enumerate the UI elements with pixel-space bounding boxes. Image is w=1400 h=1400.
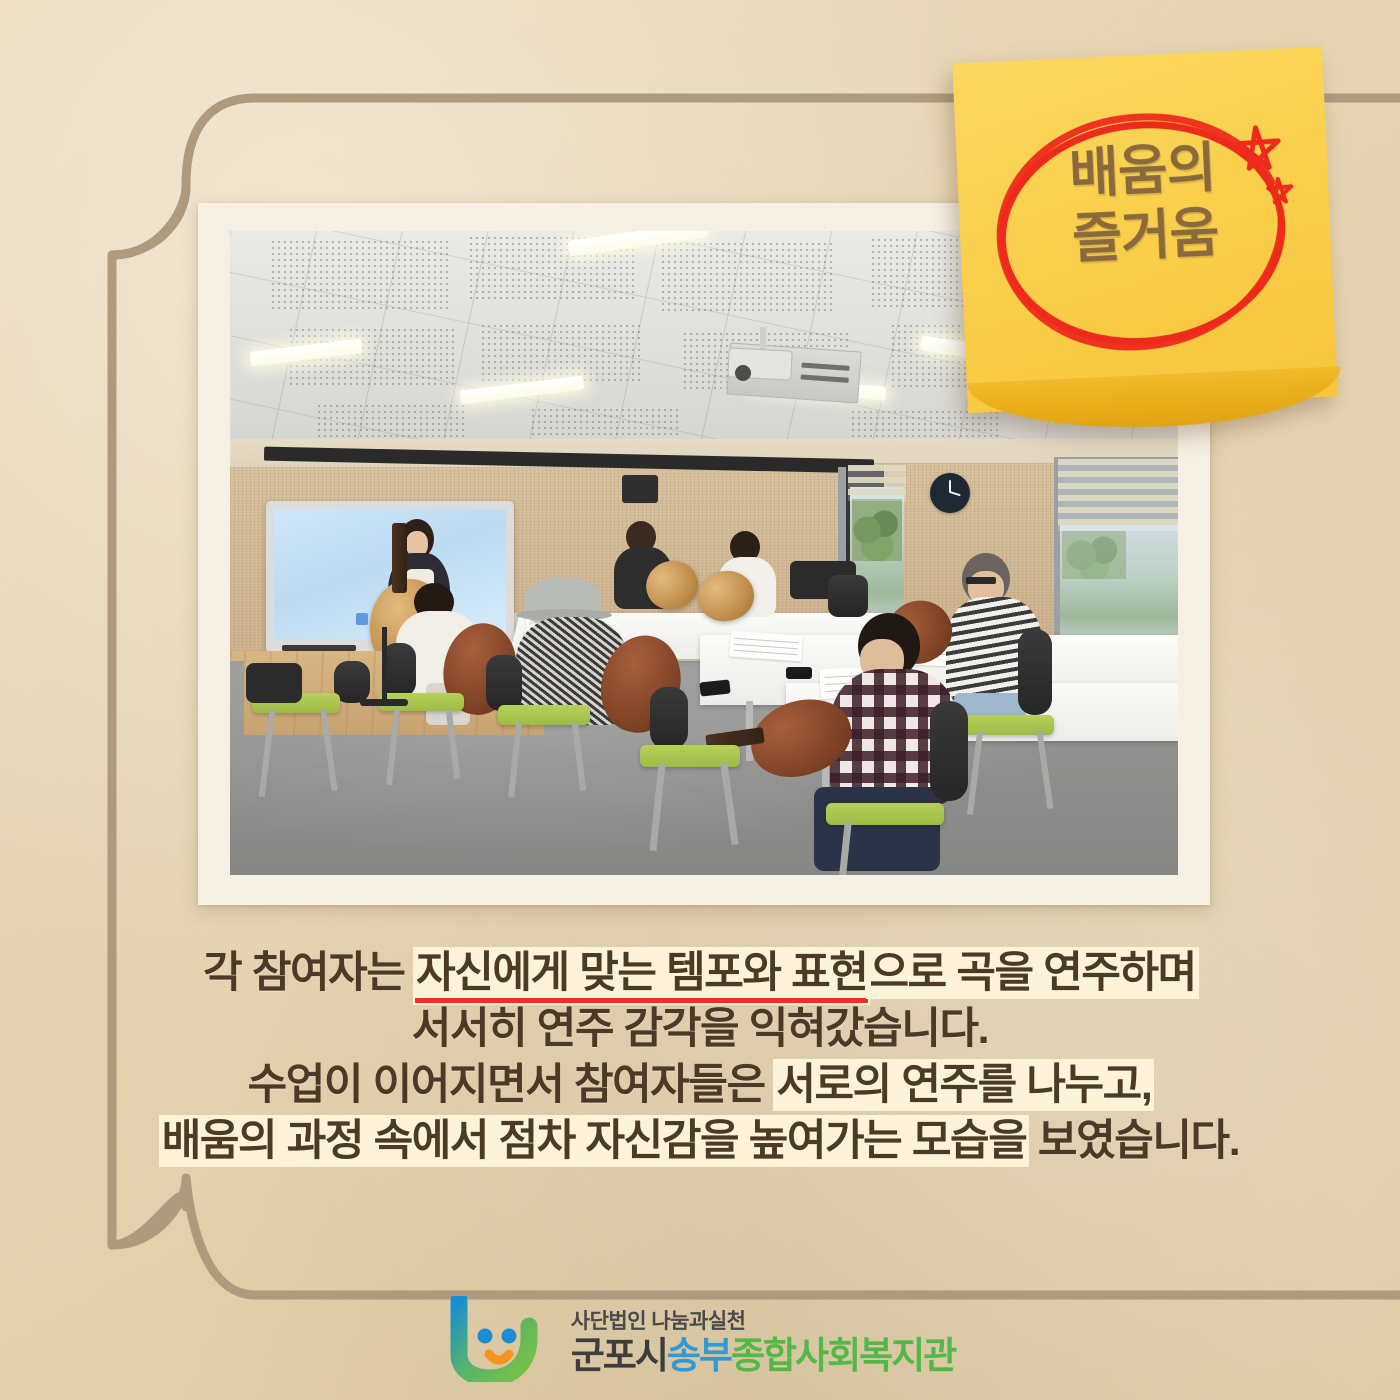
caption-line: 각 참여자는 자신에게 맞는 템포와 표현으로 곡을 연주하며	[0, 946, 1400, 1002]
caption-block: 각 참여자는 자신에게 맞는 템포와 표현으로 곡을 연주하며 서서히 연주 감…	[0, 946, 1400, 1170]
sticky-note: 배움의 즐거움	[952, 47, 1337, 413]
smiley-face-gradient-icon	[445, 1296, 549, 1382]
promo-card: 배움의 즐거움 각 참여자는 자신에게 맞는 템포와 표현으로 곡을 연주하며 …	[0, 0, 1400, 1400]
caption-segment: 수업이 이어지면서 참여자들은	[248, 1061, 776, 1109]
note-text: 배움의 즐거움	[956, 131, 1331, 277]
caption-line: 배움의 과정 속에서 점차 자신감을 높여가는 모습을 보였습니다.	[0, 1114, 1400, 1170]
caption-segment: 각 참여자는	[203, 949, 415, 997]
logo-title-part-1: 군포시	[571, 1335, 667, 1376]
caption-segment: 으로 곡을 연주하며	[868, 949, 1196, 997]
caption-segment: 배움의 과정 속에서 점차 자신감을 높여가는 모습을	[161, 1117, 1028, 1165]
caption-segment: 서로의 연주를 나누고,	[775, 1061, 1152, 1109]
logo-title: 군포시송부종합사회복지관	[571, 1337, 956, 1374]
logo-subtitle: 사단법인 나눔과실천	[571, 1305, 746, 1335]
logo-title-part-3: 종합사회복지관	[731, 1335, 955, 1376]
logo-title-part-2: 송부	[667, 1335, 731, 1376]
caption-segment: 서서히 연주 감각을 익혀갔습니다.	[412, 1005, 988, 1053]
caption-line: 수업이 이어지면서 참여자들은 서로의 연주를 나누고,	[0, 1058, 1400, 1114]
organization-logo: 사단법인 나눔과실천 군포시송부종합사회복지관	[0, 1296, 1400, 1382]
caption-segment: 보였습니다.	[1027, 1117, 1239, 1165]
caption-segment: 자신에게 맞는 템포와 표현	[415, 949, 868, 1003]
caption-line: 서서히 연주 감각을 익혀갔습니다.	[0, 1002, 1400, 1058]
